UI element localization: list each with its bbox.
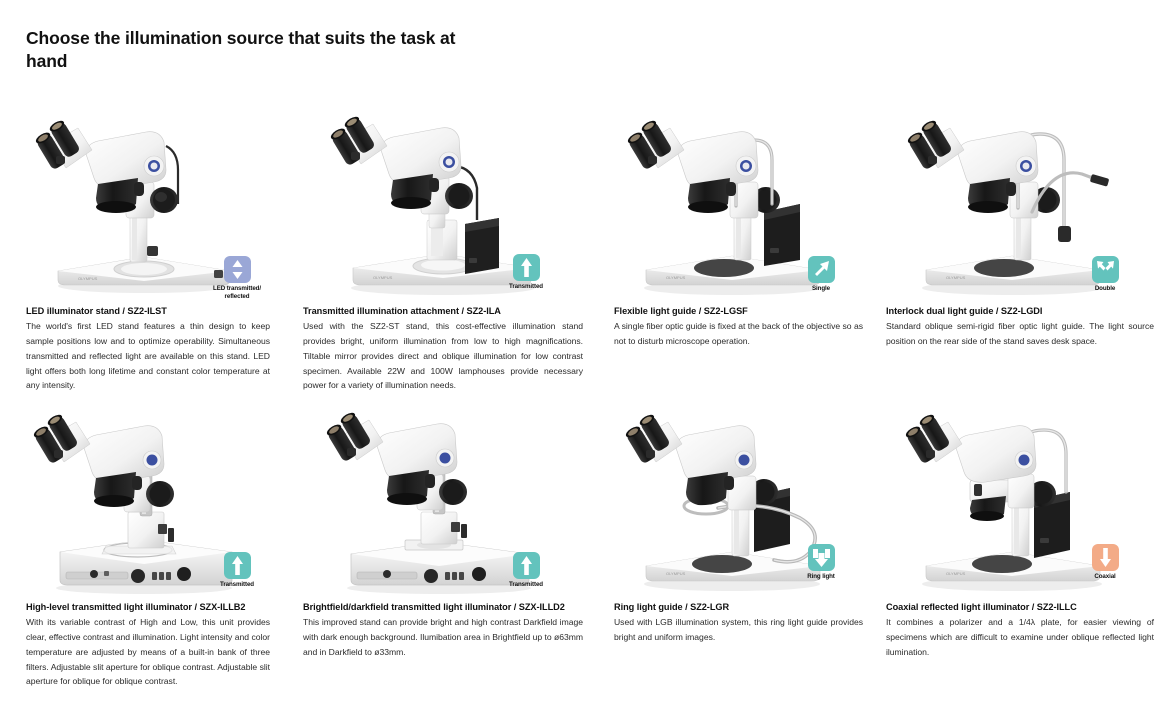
arrow-down-icon xyxy=(1092,544,1119,571)
product-caption: Transmitted illumination attachment / SZ… xyxy=(303,305,583,393)
product-caption: Interlock dual light guide / SZ2-LGDI St… xyxy=(886,305,1154,349)
product-caption: Coaxial reflected light illuminator / SZ… xyxy=(886,601,1154,660)
product-description: Standard oblique semi-rigid fiber optic … xyxy=(886,319,1154,349)
product-grid: OLYMPUS xyxy=(0,108,1171,704)
badge-transmitted-1: Transmitted xyxy=(493,254,559,291)
product-card-sz2-lgr[interactable]: OLYMPUS xyxy=(605,404,881,704)
product-card-szx-illb2[interactable]: Transmitted High-level transmitted light… xyxy=(0,404,292,704)
product-caption: Brightfield/darkfield transmitted light … xyxy=(303,601,583,660)
badge-label: Double xyxy=(1072,285,1138,293)
product-caption: High-level transmitted light illuminator… xyxy=(26,601,270,689)
product-caption: Flexible light guide / SZ2-LGSF A single… xyxy=(614,305,863,349)
product-row: Transmitted High-level transmitted light… xyxy=(0,404,1171,704)
product-title: Interlock dual light guide / SZ2-LGDI xyxy=(886,305,1154,318)
arrow-up-icon xyxy=(224,552,251,579)
product-description: This improved stand can provide bright a… xyxy=(303,615,583,659)
arrow-up-icon xyxy=(513,254,540,281)
badge-icon-box xyxy=(808,544,835,571)
catalog-page: Choose the illumination source that suit… xyxy=(0,0,1171,724)
product-description: It combines a polarizer and a 1/4λ plate… xyxy=(886,615,1154,659)
product-description: Used with LGB illumination system, this … xyxy=(614,615,863,645)
badge-label: Ring light xyxy=(788,573,854,581)
product-card-sz2-ilst[interactable]: OLYMPUS xyxy=(0,108,292,404)
badge-transmitted-3: Transmitted xyxy=(493,552,559,589)
product-image-sz2-lgsf: OLYMPUS xyxy=(614,108,863,298)
badge-icon-box xyxy=(808,256,835,283)
badge-label: Coaxial xyxy=(1072,573,1138,581)
badge-label: Single xyxy=(788,285,854,293)
badge-label: LED transmitted/ reflected xyxy=(204,285,270,298)
badge-coaxial: Coaxial xyxy=(1072,544,1138,581)
svg-text:OLYMPUS: OLYMPUS xyxy=(946,571,966,576)
page-title: Choose the illumination source that suit… xyxy=(26,27,456,74)
product-image-sz2-lgr: OLYMPUS xyxy=(614,404,863,594)
svg-text:OLYMPUS: OLYMPUS xyxy=(666,275,686,280)
ring-light-icon xyxy=(808,544,835,571)
product-description: With its variable contrast of High and L… xyxy=(26,615,270,689)
badge-led-transmitted-reflected: LED transmitted/ reflected xyxy=(204,256,270,298)
arrows-double-diagonal-icon xyxy=(1092,256,1119,283)
product-description: The world's first LED stand features a t… xyxy=(26,319,270,393)
badge-icon-box xyxy=(1092,544,1119,571)
svg-text:OLYMPUS: OLYMPUS xyxy=(946,275,966,280)
product-title: Coaxial reflected light illuminator / SZ… xyxy=(886,601,1154,614)
arrow-diagonal-icon xyxy=(808,256,835,283)
badge-label: Transmitted xyxy=(204,581,270,589)
product-title: LED illuminator stand / SZ2-ILST xyxy=(26,305,270,318)
product-image-sz2-ila: OLYMPUS xyxy=(303,108,583,298)
product-title: Flexible light guide / SZ2-LGSF xyxy=(614,305,863,318)
product-description: A single fiber optic guide is fixed at t… xyxy=(614,319,863,349)
product-caption: LED illuminator stand / SZ2-ILST The wor… xyxy=(26,305,270,393)
svg-text:OLYMPUS: OLYMPUS xyxy=(373,275,393,280)
product-image-sz2-lgdi: OLYMPUS xyxy=(886,108,1154,298)
badge-label: Transmitted xyxy=(493,581,559,589)
product-card-sz2-ila[interactable]: OLYMPUS xyxy=(292,108,605,404)
badge-ring-light: Ring light xyxy=(788,544,854,581)
product-card-sz2-lgsf[interactable]: OLYMPUS xyxy=(605,108,881,404)
arrows-up-down-icon xyxy=(224,256,251,283)
badge-label: Transmitted xyxy=(493,283,559,291)
product-card-sz2-illc[interactable]: OLYMPUS xyxy=(881,404,1171,704)
product-image-sz2-illc: OLYMPUS xyxy=(886,404,1154,594)
product-image-szx-illd2: Transmitted xyxy=(303,404,583,594)
badge-icon-box xyxy=(224,256,251,283)
arrow-up-icon xyxy=(513,552,540,579)
product-title: High-level transmitted light illuminator… xyxy=(26,601,270,614)
product-title: Ring light guide / SZ2-LGR xyxy=(614,601,863,614)
badge-icon-box xyxy=(513,552,540,579)
badge-icon-box xyxy=(513,254,540,281)
product-card-szx-illd2[interactable]: Transmitted Brightfield/darkfield transm… xyxy=(292,404,605,704)
badge-icon-box xyxy=(1092,256,1119,283)
svg-text:OLYMPUS: OLYMPUS xyxy=(666,571,686,576)
product-image-szx-illb2: Transmitted xyxy=(26,404,270,594)
badge-transmitted-2: Transmitted xyxy=(204,552,270,589)
badge-single: Single xyxy=(788,256,854,293)
product-image-sz2-ilst: OLYMPUS xyxy=(26,108,270,298)
badge-double: Double xyxy=(1072,256,1138,293)
product-description: Used with the SZ2-ST stand, this cost-ef… xyxy=(303,319,583,393)
product-title: Transmitted illumination attachment / SZ… xyxy=(303,305,583,318)
product-card-sz2-lgdi[interactable]: OLYMPUS xyxy=(881,108,1171,404)
product-title: Brightfield/darkfield transmitted light … xyxy=(303,601,583,614)
badge-icon-box xyxy=(224,552,251,579)
svg-text:OLYMPUS: OLYMPUS xyxy=(78,276,98,281)
product-row: OLYMPUS xyxy=(0,108,1171,404)
product-caption: Ring light guide / SZ2-LGR Used with LGB… xyxy=(614,601,863,645)
